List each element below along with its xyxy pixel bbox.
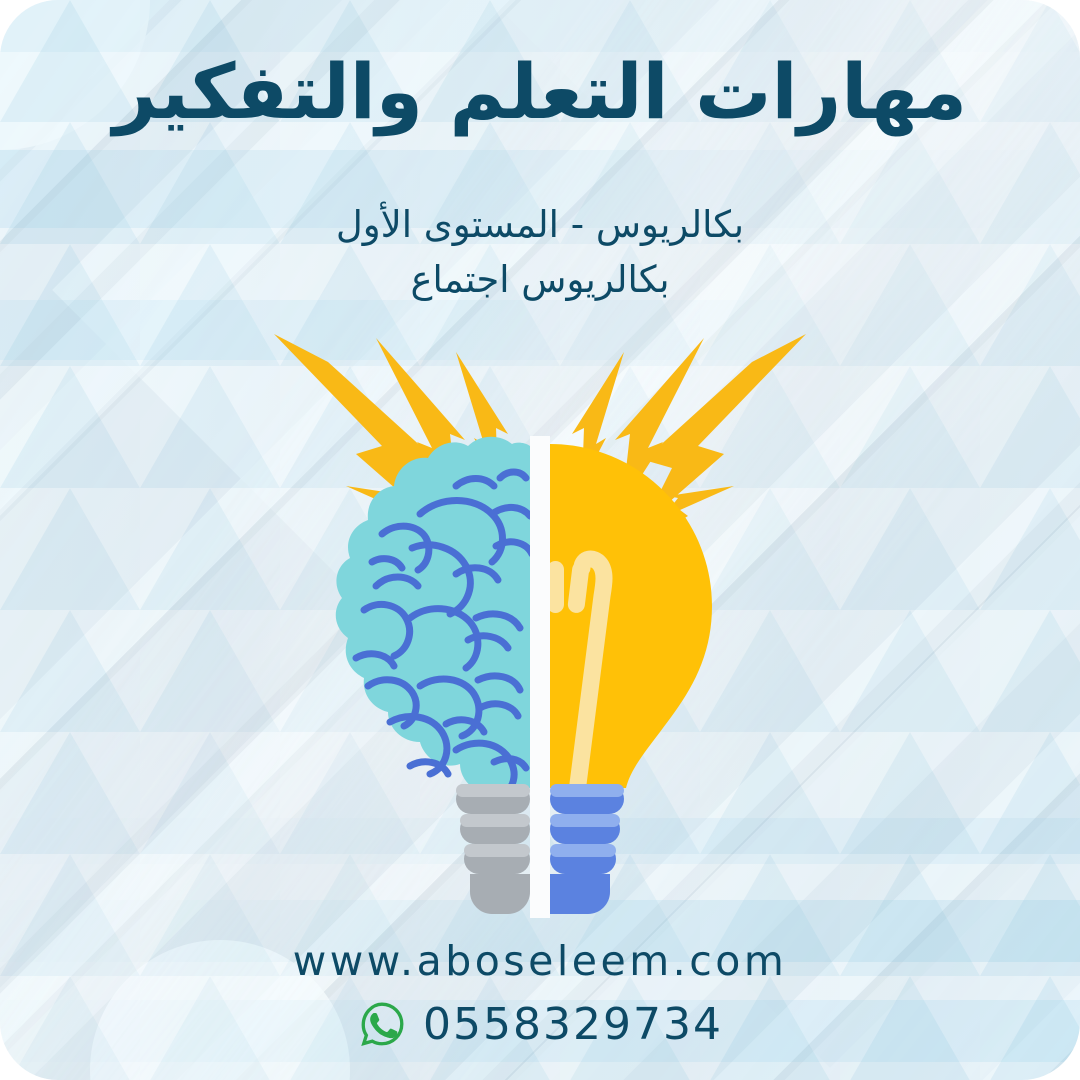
whatsapp-icon[interactable] bbox=[357, 1000, 407, 1050]
subtitle-line-1: بكالريوس - المستوى الأول bbox=[0, 198, 1080, 253]
phone-number[interactable]: 0558329734 bbox=[423, 1003, 723, 1047]
subtitle-line-2: بكالريوس اجتماع bbox=[0, 253, 1080, 308]
brain-lightbulb-illustration bbox=[260, 318, 820, 918]
page-title: مهارات التعلم والتفكير bbox=[0, 52, 1080, 132]
center-divider bbox=[530, 436, 550, 918]
poster-header: مهارات التعلم والتفكير بكالريوس - المستو… bbox=[0, 52, 1080, 307]
poster-footer: www.aboseleem.com 0558329734 bbox=[0, 941, 1080, 1050]
website-url[interactable]: www.aboseleem.com bbox=[0, 941, 1080, 982]
poster-subtitle: بكالريوس - المستوى الأول بكالريوس اجتماع bbox=[0, 198, 1080, 308]
contact-row: 0558329734 bbox=[0, 1000, 1080, 1050]
poster-canvas: مهارات التعلم والتفكير بكالريوس - المستو… bbox=[0, 0, 1080, 1080]
